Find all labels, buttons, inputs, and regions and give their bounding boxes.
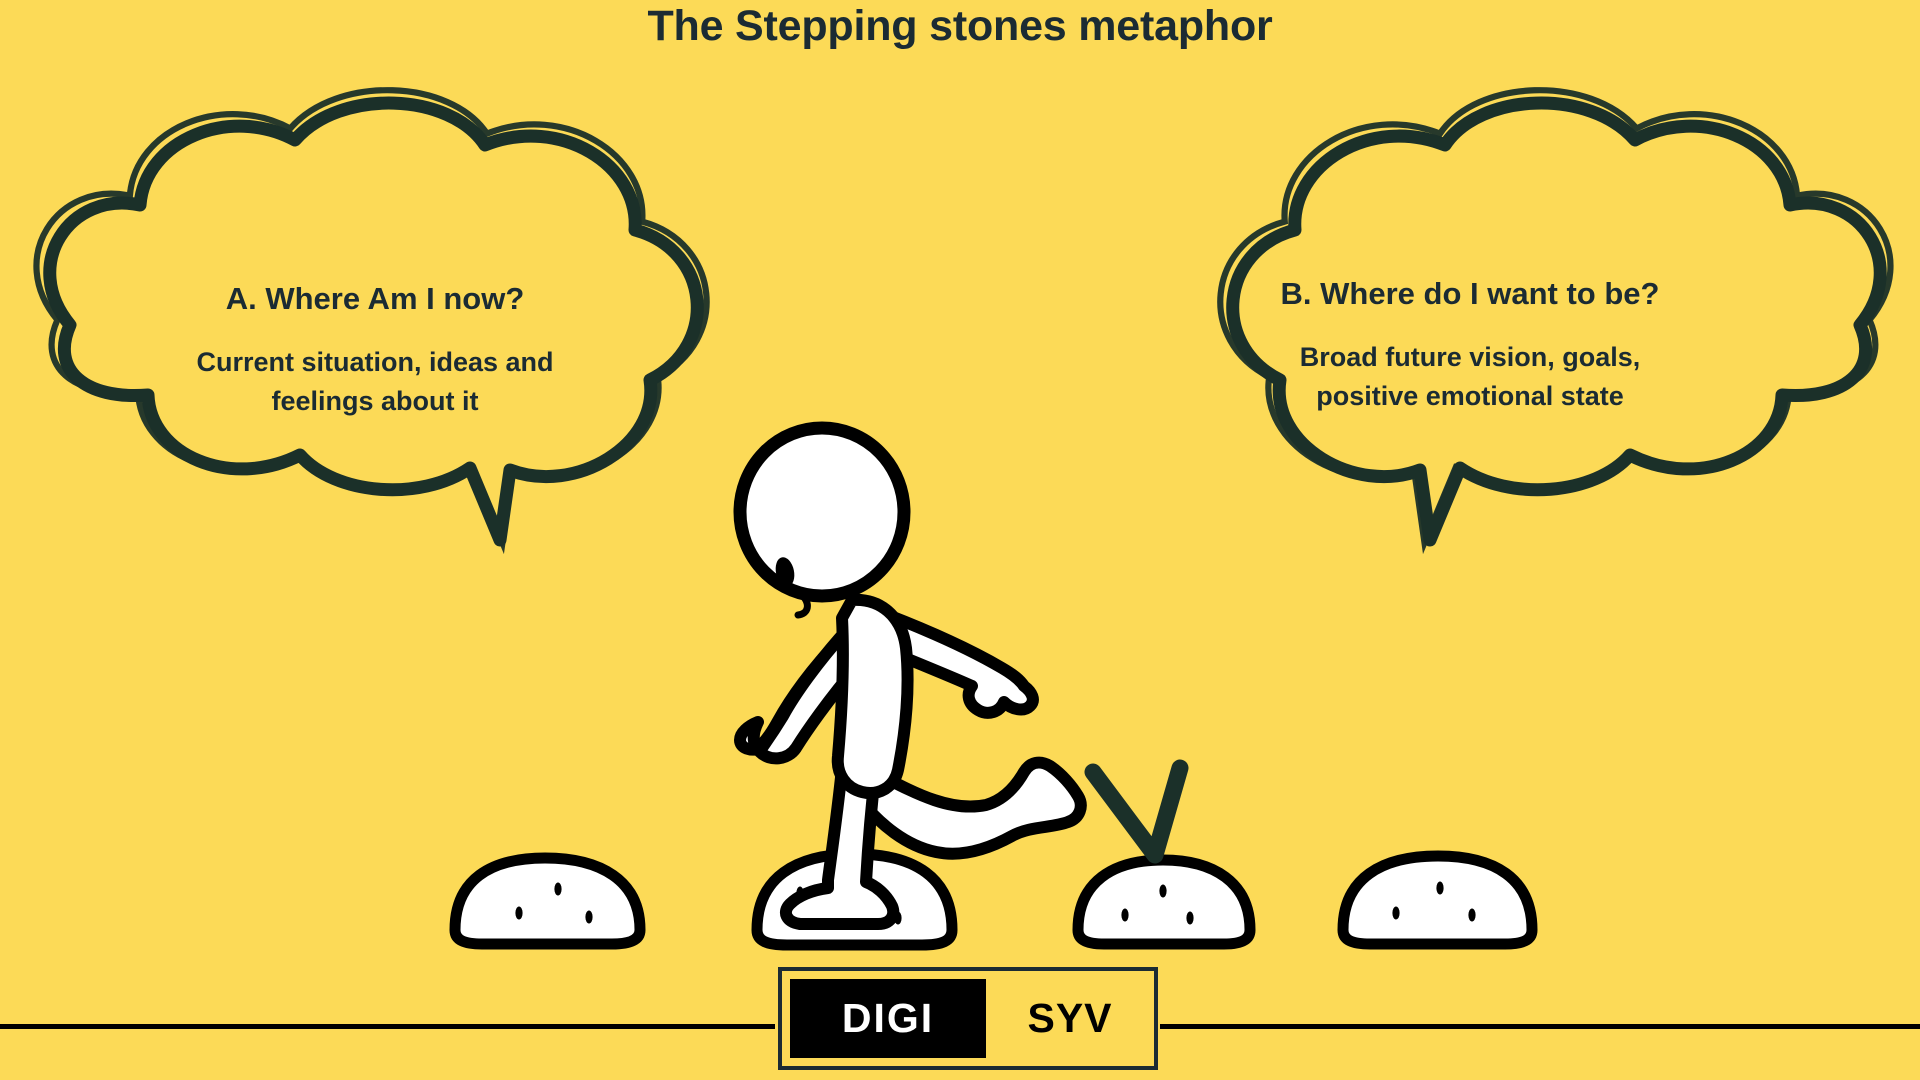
speech-bubble-b-content: B. Where do I want to be? Broad future v… (1190, 275, 1750, 416)
stone-3 (1078, 860, 1250, 944)
bubble-a-body-line1: Current situation, ideas and (110, 343, 640, 382)
page-title: The Stepping stones metaphor (0, 2, 1920, 51)
divider-line-right (1160, 1024, 1920, 1029)
stone-4 (1343, 856, 1532, 944)
bubble-b-body: Broad future vision, goals, positive emo… (1190, 338, 1750, 416)
figure-eye (773, 555, 797, 588)
bubble-a-body: Current situation, ideas and feelings ab… (110, 343, 640, 421)
stone-1 (455, 858, 640, 944)
walking-figure (740, 428, 1081, 924)
stepping-stones (455, 854, 1532, 945)
stone-2 (757, 854, 952, 945)
bubble-a-body-line2: feelings about it (110, 382, 640, 421)
figure-mouth (798, 593, 807, 615)
check-mark-icon (1093, 768, 1180, 855)
bubble-b-heading: B. Where do I want to be? (1190, 275, 1750, 312)
logo-syv: SYV (986, 971, 1154, 1066)
bubble-b-body-line2: positive emotional state (1190, 377, 1750, 416)
bubble-b-body-line1: Broad future vision, goals, (1190, 338, 1750, 377)
bubble-a-heading: A. Where Am I now? (110, 280, 640, 317)
brand-logo: DIGI SYV (778, 967, 1158, 1070)
poster-canvas: The Stepping stones metaphor A. Where Am… (0, 0, 1920, 1080)
speech-bubble-a-content: A. Where Am I now? Current situation, id… (110, 280, 640, 421)
divider-line-left (0, 1024, 775, 1029)
logo-digi: DIGI (790, 979, 986, 1058)
